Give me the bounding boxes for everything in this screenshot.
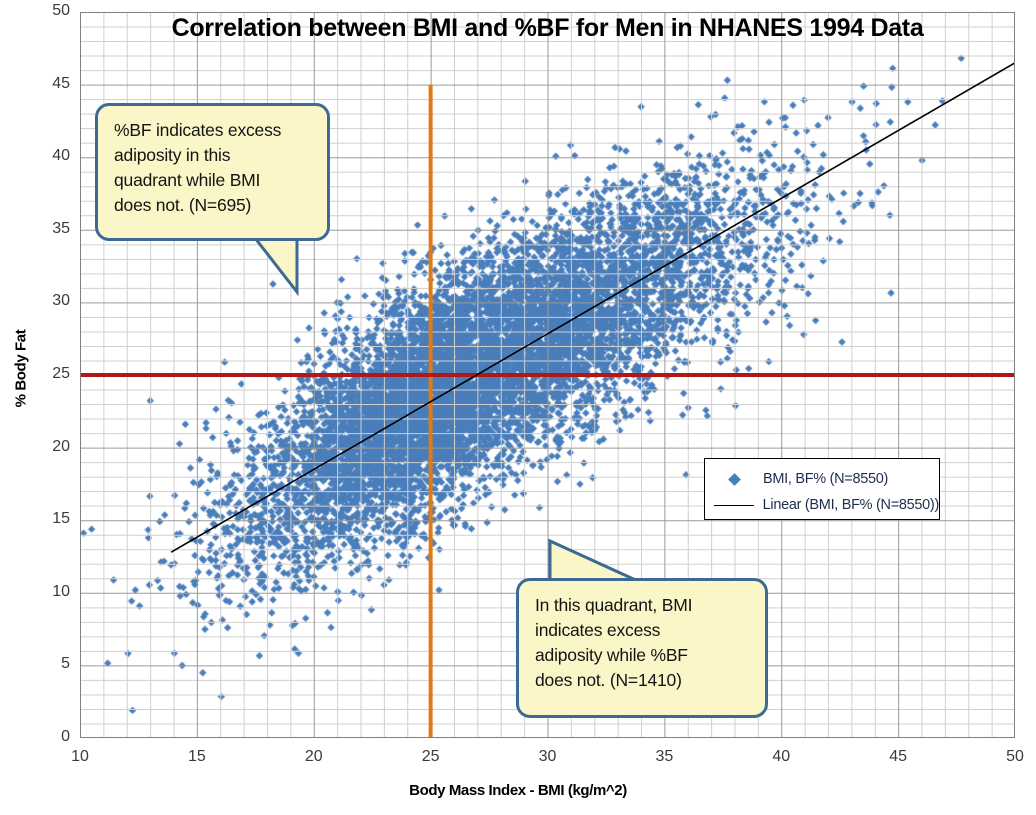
x-tick-label: 20 [294,748,334,766]
callout-lower-right-line-1: In this quadrant, BMI [535,593,751,618]
chart-legend: BMI, BF% (N=8550) Linear (BMI, BF% (N=85… [704,458,940,520]
legend-label-scatter: BMI, BF% (N=8550) [763,471,888,487]
y-tick-label: 0 [28,728,70,746]
x-tick-label: 35 [644,748,684,766]
callout-upper-left-line-2: adiposity in this [114,143,313,168]
callout-upper-left-quadrant: %BF indicates excess adiposity in this q… [95,103,330,241]
x-tick-label: 15 [177,748,217,766]
callout-lower-right-line-4: does not. (N=1410) [535,668,751,693]
x-tick-label: 10 [60,748,100,766]
y-tick-label: 30 [28,292,70,310]
x-tick-label: 50 [995,748,1035,766]
callout-upper-left-line-4: does not. (N=695) [114,193,313,218]
diamond-marker-icon [705,475,763,484]
y-tick-label: 45 [28,75,70,93]
y-tick-label: 50 [28,2,70,20]
y-axis-title: % Body Fat [13,304,30,434]
legend-entry-trendline: Linear (BMI, BF% (N=8550)) [705,492,939,518]
callout-upper-left-line-3: quadrant while BMI [114,168,313,193]
legend-entry-scatter: BMI, BF% (N=8550) [705,466,939,492]
page-title: Correlation between BMI and %BF for Men … [80,14,1015,43]
x-tick-label: 25 [411,748,451,766]
callout-upper-left-line-1: %BF indicates excess [114,118,313,143]
x-tick-label: 30 [528,748,568,766]
y-tick-label: 35 [28,220,70,238]
callout-lower-right-quadrant: In this quadrant, BMI indicates excess a… [516,578,768,718]
callout-lower-right-line-2: indicates excess [535,618,751,643]
legend-label-trendline: Linear (BMI, BF% (N=8550)) [763,497,939,513]
y-tick-label: 40 [28,147,70,165]
y-tick-label: 20 [28,438,70,456]
x-tick-label: 40 [761,748,801,766]
scatter-chart: Correlation between BMI and %BF for Men … [0,0,1036,815]
x-axis-title: Body Mass Index - BMI (kg/m^2) [0,782,1036,799]
y-tick-label: 10 [28,583,70,601]
y-tick-label: 5 [28,655,70,673]
line-marker-icon [705,505,763,506]
y-tick-label: 15 [28,510,70,528]
callout-lower-right-line-3: adiposity while %BF [535,643,751,668]
y-tick-label: 25 [28,365,70,383]
x-tick-label: 45 [878,748,918,766]
